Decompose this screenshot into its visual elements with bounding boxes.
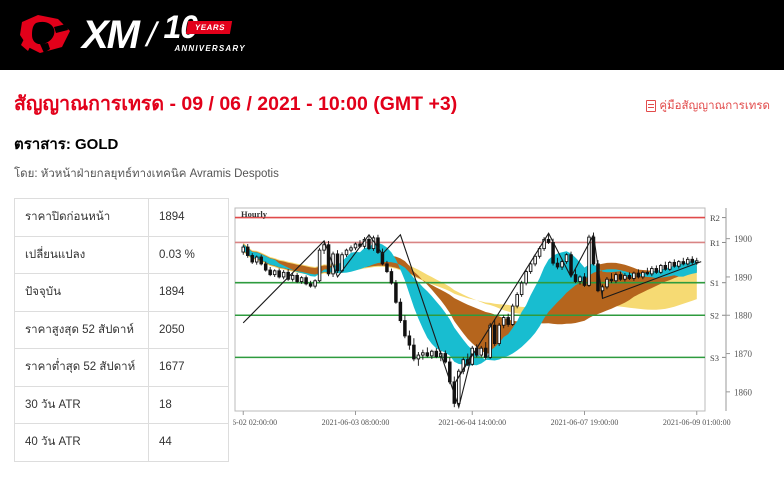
candle-body [395,283,398,302]
candle-body [444,354,447,362]
anniversary-label: ANNIVERSARY [174,44,245,53]
candle-body [426,353,429,356]
candle-body [408,336,411,345]
candle-body [291,275,294,279]
instrument-label: ตราสาร: GOLD [14,132,770,156]
level-label-S2: S2 [710,311,719,321]
candle-body [502,318,505,326]
candle-body [300,278,303,282]
level-label-R2: R2 [710,213,720,223]
candle-body [435,351,438,356]
stat-value: 2050 [149,311,229,349]
candle-body [413,345,416,359]
table-row: 30 วัน ATR 18 [15,386,229,424]
level-label-R1: R1 [710,238,720,248]
stat-label: ราคาต่ำสุด 52 สัปดาห์ [15,349,149,387]
candle-body [669,262,672,269]
candle-body [565,255,568,262]
candle-body [264,264,267,270]
candlestick [570,252,573,277]
candle-body [651,269,654,274]
candle-body [305,278,308,284]
candle-body [628,275,631,278]
candle-body [399,302,402,320]
candle-body [646,272,649,274]
candle-body [633,273,636,278]
pdf-file-icon [646,100,656,112]
stat-label: ปัจจุบัน [15,274,149,312]
candle-body [570,255,573,275]
candle-body [354,244,357,248]
price-axis-label: 1890 [734,272,753,282]
candle-body [534,256,537,264]
author-byline: โดย: หัวหน้าฝ่ายกลยุทธ์ทางเทคนิค Avramis… [14,165,770,183]
candle-body [282,272,285,277]
candle-body [516,295,519,306]
pdf-link-label: คู่มือสัญญาณการเทรด [659,97,770,115]
stat-value: 1894 [149,199,229,237]
candle-body [251,255,254,262]
candle-body [242,247,245,252]
candle-body [660,265,663,272]
candle-body [350,248,353,250]
candle-body [695,261,698,263]
candle-body [637,273,640,277]
price-chart[interactable]: R2R1S1S2S3190018901880187018602021-06-02… [233,198,783,433]
stat-label: ราคาปิดก่อนหน้า [15,199,149,237]
candlestick [399,298,402,323]
candle-body [556,263,559,267]
price-axis-label: 1900 [734,234,753,244]
candle-body [341,255,344,271]
level-label-S3: S3 [710,353,719,363]
candlestick [318,248,321,282]
page-title: สัญญาณการเทรด - 09 / 06 / 2021 - 10:00 (… [14,92,457,116]
date-axis-label: 2021-06-04 14:00:00 [438,418,506,427]
candle-body [606,279,609,287]
candle-body [345,250,348,255]
candle-body [390,272,393,283]
price-chart-svg: R2R1S1S2S3190018901880187018602021-06-02… [233,198,783,433]
candle-body [507,318,510,325]
candle-body [417,355,420,359]
candle-body [619,275,622,280]
table-row: ราคาต่ำสุด 52 สัปดาห์ 1677 [15,349,229,387]
signal-panel: ราคาปิดก่อนหน้า 1894 เปลี่ยนแปลง 0.03 % … [14,198,770,462]
candle-body [673,262,676,266]
candlestick [327,241,330,276]
candlestick [669,261,672,271]
candle-body [377,238,380,253]
candle-body [309,284,312,286]
date-axis-label: 2021-06-03 08:00:00 [322,418,390,427]
candlestick [660,264,663,274]
chart-timeframe-label: Hourly [241,209,268,219]
candle-body [624,275,627,279]
date-axis-label: 2021-06-02 02:00:00 [233,418,277,427]
trading-signals-guide-link[interactable]: คู่มือสัญญาณการเทรด [646,97,770,115]
candle-body [529,264,532,272]
candle-body [493,325,496,343]
candle-body [520,283,523,294]
candle-body [273,271,276,275]
price-axis-label: 1860 [734,387,753,397]
candle-body [386,264,389,272]
candle-body [323,245,326,250]
candlestick [520,281,523,297]
stat-label: เปลี่ยนแปลง [15,236,149,274]
candlestick [511,304,514,326]
candle-body [583,277,586,285]
candlestick [498,323,501,346]
candle-body [480,348,483,355]
date-axis-label: 2021-06-07 19:00:00 [551,418,619,427]
candle-body [489,325,492,357]
candle-body [318,250,321,281]
bull-logo-icon [18,13,76,57]
anniversary-badge: 10 YEARS ANNIVERSARY [163,12,243,58]
candle-body [677,262,680,267]
page-content: สัญญาณการเทรด - 09 / 06 / 2021 - 10:00 (… [0,70,784,462]
candlestick [377,235,380,254]
candle-body [278,271,281,277]
title-row: สัญญาณการเทรด - 09 / 06 / 2021 - 10:00 (… [14,70,770,116]
table-row: เปลี่ยนแปลง 0.03 % [15,236,229,274]
candle-body [682,262,685,264]
price-axis-label: 1870 [734,349,753,359]
candle-body [246,247,249,255]
table-row: ราคาปิดก่อนหน้า 1894 [15,199,229,237]
candle-body [642,272,645,277]
candlestick [336,250,339,273]
table-row: 40 วัน ATR 44 [15,424,229,462]
instrument-stats-table: ราคาปิดก่อนหน้า 1894 เปลี่ยนแปลง 0.03 % … [14,198,229,462]
stat-value: 1677 [149,349,229,387]
candle-body [686,259,689,264]
candlestick [395,280,398,304]
candle-body [547,239,550,242]
candle-body [574,275,577,282]
candle-body [255,257,258,262]
divider-slash: / [143,17,160,53]
candle-body [511,306,514,324]
candle-body [552,242,555,263]
candle-body [691,259,694,262]
candle-body [498,325,501,343]
candle-body [525,272,528,283]
candle-body [368,239,371,248]
candlestick [516,292,519,308]
candle-body [260,257,263,264]
stat-value: 1894 [149,274,229,312]
stats-table-body: ราคาปิดก่อนหน้า 1894 เปลี่ยนแปลง 0.03 % … [15,199,229,462]
candle-body [610,279,613,281]
candle-body [664,265,667,269]
anniversary-years-label: YEARS [186,21,232,34]
level-label-S1: S1 [710,278,719,288]
stat-value: 18 [149,386,229,424]
candle-body [615,275,618,281]
candle-body [336,254,339,271]
date-axis-label: 2021-06-09 01:00:00 [663,418,731,427]
candle-body [296,275,299,281]
candle-body [431,351,434,356]
stat-value: 44 [149,424,229,462]
candle-body [404,321,407,336]
price-axis-label: 1880 [734,311,753,321]
table-row: ราคาสูงสุด 52 สัปดาห์ 2050 [15,311,229,349]
candle-body [484,348,487,357]
stat-value: 0.03 % [149,236,229,274]
stat-label: ราคาสูงสุด 52 สัปดาห์ [15,311,149,349]
candle-body [655,269,658,273]
stat-label: 30 วัน ATR [15,386,149,424]
brand-header-bar: XM / 10 YEARS ANNIVERSARY [0,0,784,70]
xm-logo[interactable]: XM / 10 YEARS ANNIVERSARY [18,8,243,62]
brand-name: XM [82,15,138,55]
candle-body [314,281,317,286]
candle-body [579,277,582,282]
candle-body [269,270,272,275]
table-row: ปัจจุบัน 1894 [15,274,229,312]
candle-body [422,353,425,355]
stat-label: 40 วัน ATR [15,424,149,462]
